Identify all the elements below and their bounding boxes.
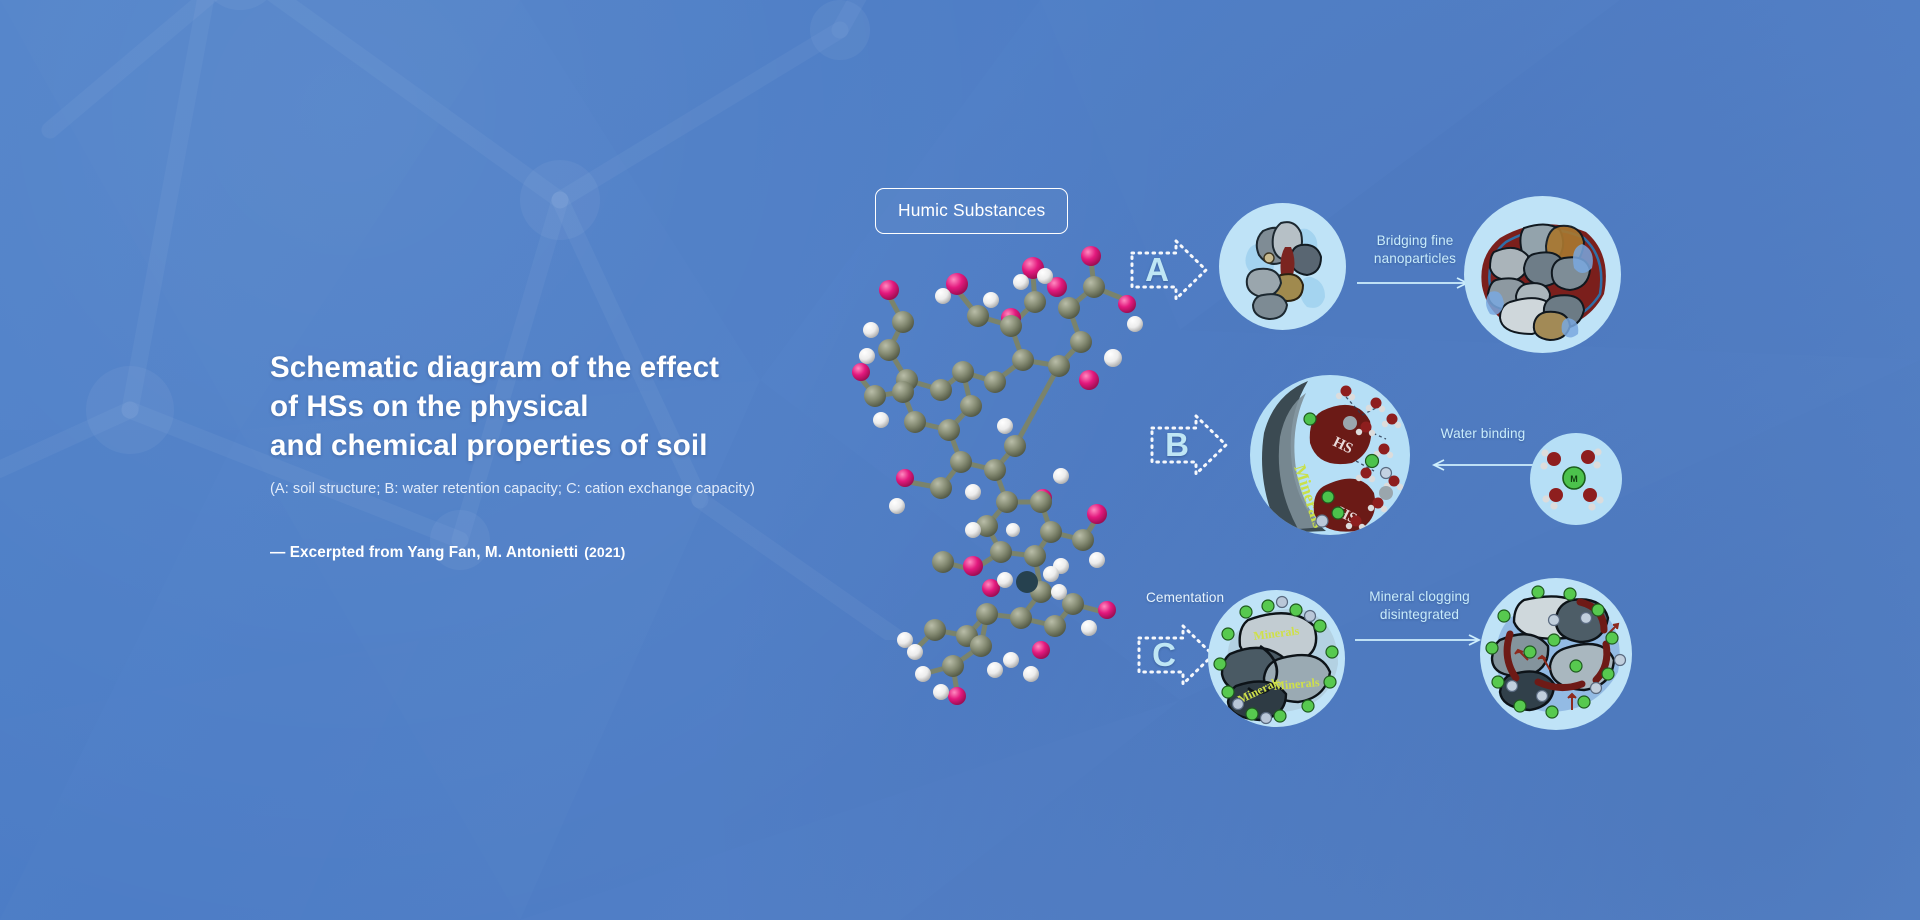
connector-b: Water binding xyxy=(1420,425,1546,478)
svg-text:M: M xyxy=(1570,474,1578,484)
connector-a-label-line2: nanoparticles xyxy=(1355,250,1475,268)
circle-hs-mineral-water-surface: Minerals HS HS xyxy=(1250,375,1410,535)
connector-a: Bridging fine nanoparticles xyxy=(1355,232,1475,296)
connector-a-label-line1: Bridging fine xyxy=(1355,232,1475,250)
source-credit: — Excerpted from Yang Fan, M. Antonietti… xyxy=(270,544,910,562)
page-title: Schematic diagram of the effect of HSs o… xyxy=(270,348,910,466)
arrow-letter-c: C xyxy=(1133,620,1195,690)
arrow-right-c xyxy=(1355,632,1485,648)
arrow-letter-a: A xyxy=(1126,235,1188,305)
credit-year: (2021) xyxy=(584,544,625,560)
arrow-tag-c: C xyxy=(1133,620,1217,690)
connector-c: Mineral clogging disintegrated xyxy=(1352,588,1487,653)
credit-text: — Excerpted from Yang Fan, M. Antonietti xyxy=(270,544,578,561)
page-subtitle: (A: soil structure; B: water retention c… xyxy=(270,481,910,497)
humic-substances-label: Humic Substances xyxy=(875,188,1068,234)
headline-block: Schematic diagram of the effect of HSs o… xyxy=(270,348,910,562)
circle-disintegrated-aggregate xyxy=(1480,578,1632,730)
title-line-2: of HSs on the physical xyxy=(270,387,910,426)
connector-b-label-line1: Water binding xyxy=(1420,425,1546,443)
arrow-right-a xyxy=(1357,275,1473,291)
title-line-3: and chemical properties of soil xyxy=(270,426,910,465)
connector-c-label-line1: Mineral clogging xyxy=(1352,588,1487,606)
circle-soil-aggregate-bridged xyxy=(1464,196,1621,353)
poster-canvas: Schematic diagram of the effect of HSs o… xyxy=(0,0,1920,920)
connector-c-label-line2: disintegrated xyxy=(1352,606,1487,624)
arrow-tag-a: A xyxy=(1126,235,1210,305)
arrow-letter-b: B xyxy=(1146,410,1208,480)
circle-mineral-clogged-aggregate: Minerals Minerals Minerals xyxy=(1208,590,1345,727)
cementation-label: Cementation xyxy=(1146,590,1224,605)
title-line-1: Schematic diagram of the effect xyxy=(270,348,910,387)
circle-soil-particles-dispersed xyxy=(1219,203,1346,330)
arrow-left-b xyxy=(1422,457,1544,473)
circle-hydrated-cation: M xyxy=(1530,433,1622,525)
arrow-tag-b: B xyxy=(1146,410,1230,480)
